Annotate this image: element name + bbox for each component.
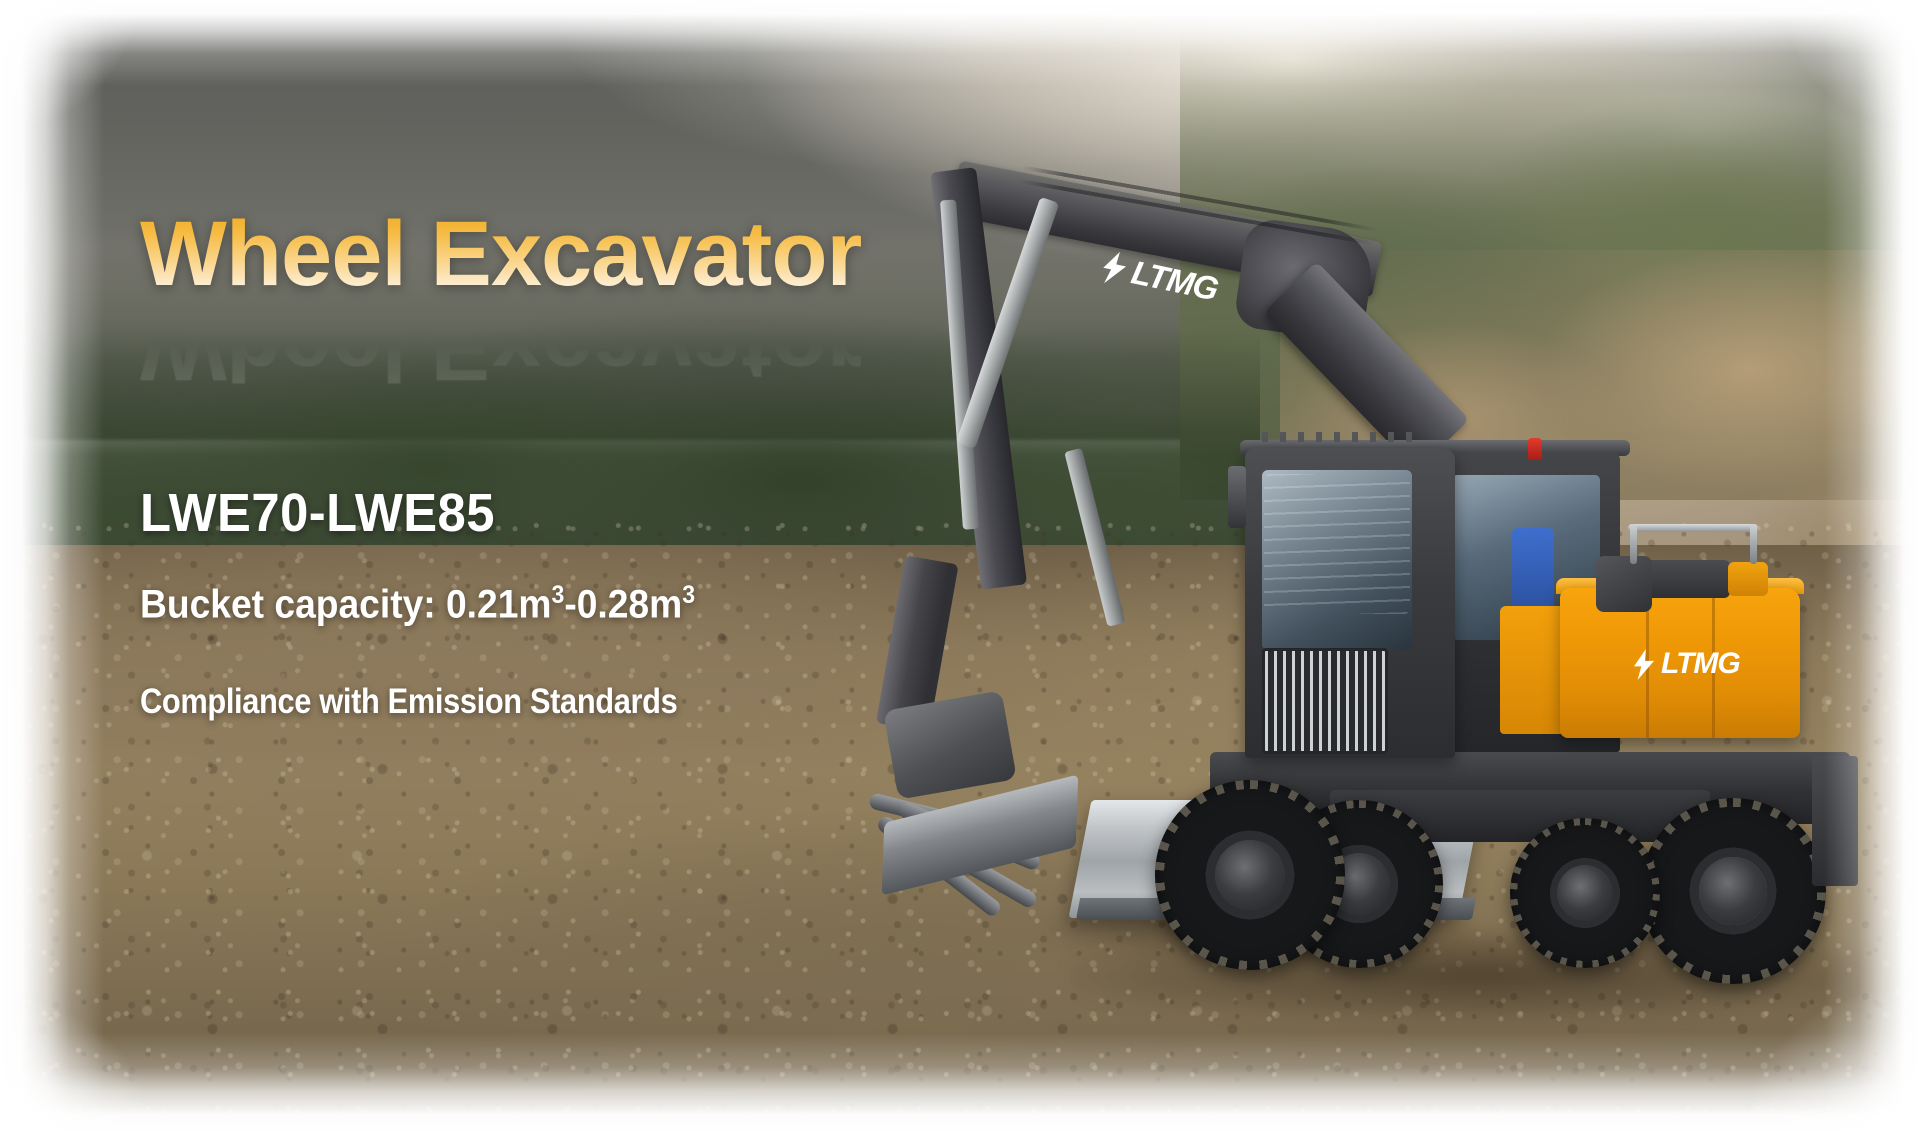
bucket-capacity-spec: Bucket capacity: 0.21m3-0.28m3 <box>140 582 695 627</box>
emission-standards-text: Compliance with Emission Standards <box>140 682 677 722</box>
spec-middle: -0.28m <box>564 582 682 626</box>
headline-reflection: Wheel Excavator <box>140 302 861 394</box>
headline-title: Wheel Excavator <box>140 208 861 300</box>
spec-superscript: 3 <box>551 582 564 609</box>
banner-copy: Wheel Excavator Wheel Excavator LWE70-LW… <box>0 0 1920 1133</box>
headline-block: Wheel Excavator Wheel Excavator <box>140 208 861 394</box>
product-banner: LTMG LTMG Wheel Excavator Wheel Excavato… <box>0 0 1920 1133</box>
spec-prefix: Bucket capacity: 0.21m <box>140 582 551 626</box>
model-number: LWE70-LWE85 <box>140 482 495 544</box>
spec-superscript: 3 <box>682 582 695 609</box>
